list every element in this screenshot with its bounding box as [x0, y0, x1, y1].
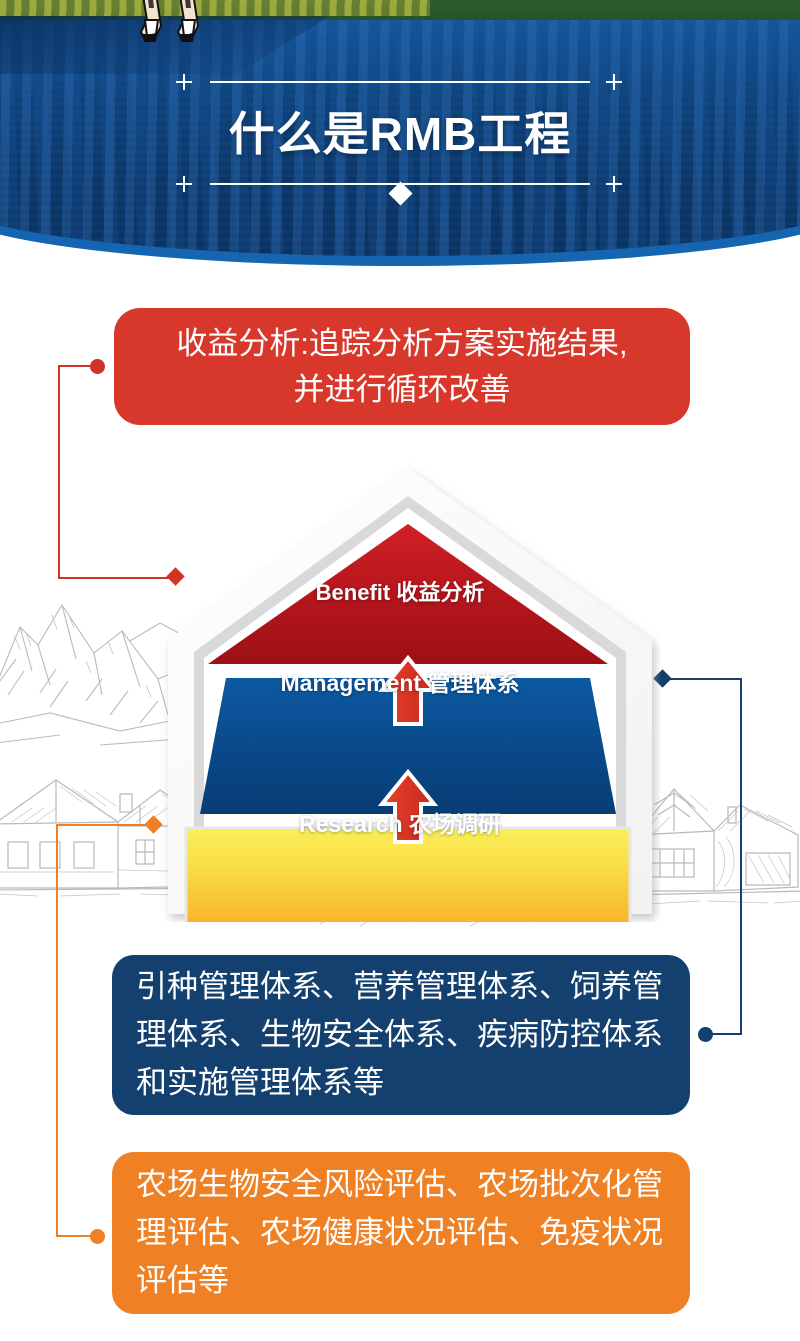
infographic-page: 什么是RMB工程	[0, 0, 800, 1341]
pyramid-roof-label: Benefit 收益分析	[0, 575, 800, 607]
benefit-callout-line2: 并进行循环改善	[294, 372, 511, 407]
benefit-callout-box[interactable]: 收益分析:追踪分析方案实施结果, 并进行循环改善	[114, 308, 690, 425]
plus-icon-bottom-right	[606, 176, 622, 192]
benefit-callout-line1: 收益分析:追踪分析方案实施结果,	[176, 326, 627, 361]
research-connector-dot	[90, 1229, 105, 1244]
pyramid-base-label: Research 农场调研	[0, 805, 800, 839]
management-callout-text: 引种管理体系、营养管理体系、饲养管理体系、生物安全体系、疾病防控体系和实施管理体…	[136, 963, 666, 1107]
benefit-callout-text: 收益分析:追踪分析方案实施结果, 并进行循环改善	[134, 321, 670, 413]
header-banner: 什么是RMB工程	[0, 0, 800, 300]
benefit-connector-dot	[90, 359, 105, 374]
research-callout-box[interactable]: 农场生物安全风险评估、农场批次化管理评估、农场健康状况评估、免疫状况评估等	[112, 1152, 690, 1314]
title-rule-top	[210, 81, 590, 83]
management-callout-box[interactable]: 引种管理体系、营养管理体系、饲养管理体系、生物安全体系、疾病防控体系和实施管理体…	[112, 955, 690, 1115]
diamond-icon-title	[388, 181, 412, 205]
plus-icon-bottom-left	[176, 176, 192, 192]
title-block: 什么是RMB工程	[0, 0, 800, 266]
research-callout-text: 农场生物安全风险评估、农场批次化管理评估、农场健康状况评估、免疫状况评估等	[136, 1161, 666, 1305]
pyramid-middle-label: Management 管理体系	[0, 664, 800, 698]
management-connector-dot	[698, 1027, 713, 1042]
plus-icon-top-right	[606, 74, 622, 90]
plus-icon-top-left	[176, 74, 192, 90]
page-title: 什么是RMB工程	[0, 98, 800, 164]
